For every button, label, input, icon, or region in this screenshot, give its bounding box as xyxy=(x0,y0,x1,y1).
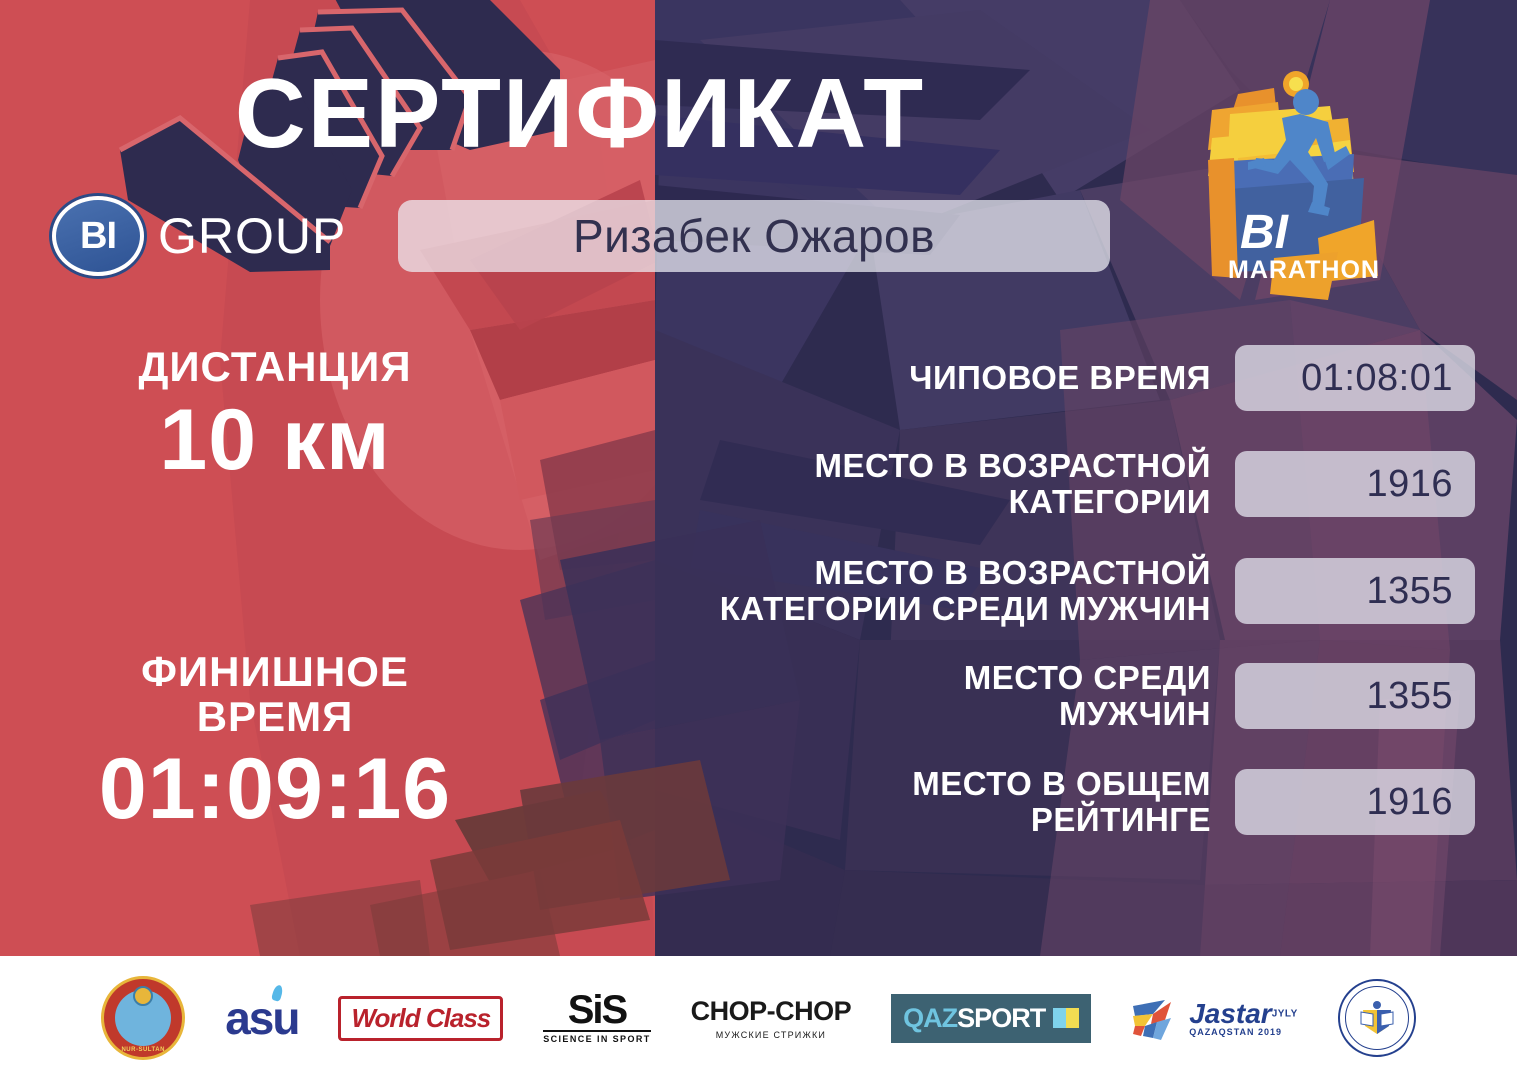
stat-row-overall-place: МЕСТО В ОБЩЕМ РЕЙТИНГЕ 1916 xyxy=(530,769,1475,835)
athlete-name-badge: Ризабек Ожаров xyxy=(398,200,1110,272)
sponsor-bar: NUR-SULTAN asu World Class SiS SCIENCE I… xyxy=(0,956,1517,1080)
sponsor-ministry xyxy=(1338,979,1416,1057)
chop-chop-wordmark: CHOP-CHOP xyxy=(691,996,852,1027)
stat-age-category-men-place-value: 1355 xyxy=(1235,558,1475,624)
nur-sultan-emblem-text: NUR-SULTAN xyxy=(121,1047,164,1053)
stat-row-age-category-place: МЕСТО В ВОЗРАСТНОЙ КАТЕГОРИИ 1916 xyxy=(530,451,1475,517)
sponsor-sis: SiS SCIENCE IN SPORT xyxy=(543,992,650,1044)
stat-finish-time: ФИНИШНОЕ ВРЕМЯ 01:09:16 xyxy=(40,650,510,836)
world-class-logo-frame: World Class xyxy=(338,996,503,1041)
sis-wordmark: SiS xyxy=(543,992,650,1028)
stat-row-age-category-men-place: МЕСТО В ВОЗРАСТНОЙ КАТЕГОРИИ СРЕДИ МУЖЧИ… xyxy=(530,558,1475,624)
page-title: СЕРТИФИКАТ xyxy=(0,62,1160,165)
stat-overall-place-label: МЕСТО В ОБЩЕМ РЕЙТИНГЕ xyxy=(912,766,1211,837)
stat-finish-time-value: 01:09:16 xyxy=(40,743,510,836)
jastar-sup: JYLY xyxy=(1272,1008,1298,1019)
qazsport-flag-icon xyxy=(1053,1008,1079,1028)
stat-distance: ДИСТАНЦИЯ 10 км xyxy=(40,345,510,486)
sponsor-asu: asu xyxy=(225,991,298,1045)
certificate: СЕРТИФИКАТ BI GROUP Ризабек Ожаров BI M xyxy=(0,0,1517,1080)
jastar-wordmark: Jastar xyxy=(1189,998,1272,1029)
jastar-text-block: JastarJYLY QAZAQSTAN 2019 xyxy=(1189,1000,1298,1037)
jastar-bird-icon xyxy=(1131,992,1183,1044)
qazsport-wordmark-b: SPORT xyxy=(957,1003,1045,1034)
sis-tagline: SCIENCE IN SPORT xyxy=(543,1030,650,1044)
stat-finish-time-label: ФИНИШНОЕ ВРЕМЯ xyxy=(40,650,510,739)
sponsor-nur-sultan: NUR-SULTAN xyxy=(101,976,185,1060)
jastar-sub: QAZAQSTAN 2019 xyxy=(1189,1028,1298,1037)
bi-logo-word: GROUP xyxy=(158,207,346,265)
asu-logo-text: asu xyxy=(225,991,298,1045)
chop-chop-tagline: МУЖСКИЕ СТРИЖКИ xyxy=(691,1030,852,1040)
sponsor-jastar-jyly: JastarJYLY QAZAQSTAN 2019 xyxy=(1131,992,1298,1044)
stat-age-category-place-value: 1916 xyxy=(1235,451,1475,517)
stat-chip-time-label: ЧИПОВОЕ ВРЕМЯ xyxy=(909,360,1211,396)
bi-marathon-logo: BI MARATHON xyxy=(1178,62,1408,304)
bi-logo-mark: BI xyxy=(52,196,144,276)
stat-age-category-place-label: МЕСТО В ВОЗРАСТНОЙ КАТЕГОРИИ xyxy=(814,448,1211,519)
world-class-wordmark: World Class xyxy=(351,1003,490,1033)
stat-men-place-label: МЕСТО СРЕДИ МУЖЧИН xyxy=(964,660,1211,731)
asu-wordmark: asu xyxy=(225,992,298,1044)
stat-row-chip-time: ЧИПОВОЕ ВРЕМЯ 01:08:01 xyxy=(530,345,1475,411)
jastar-logo-block: JastarJYLY QAZAQSTAN 2019 xyxy=(1131,992,1298,1044)
marathon-logo-line1: BI xyxy=(1240,206,1290,259)
chop-chop-logo-block: CHOP-CHOP МУЖСКИЕ СТРИЖКИ xyxy=(691,996,852,1040)
qazsport-wordmark-a: QAZ xyxy=(903,1003,957,1034)
stat-distance-value: 10 км xyxy=(40,394,510,487)
ministry-emblem-icon xyxy=(1338,979,1416,1057)
nur-sultan-emblem-icon: NUR-SULTAN xyxy=(101,976,185,1060)
bi-group-logo: BI GROUP xyxy=(52,196,346,276)
stat-men-place-value: 1355 xyxy=(1235,663,1475,729)
ministry-emblem-ring xyxy=(1345,986,1409,1050)
sponsor-qazsport: QAZ SPORT xyxy=(891,994,1091,1043)
stat-chip-time-value: 01:08:01 xyxy=(1235,345,1475,411)
stat-distance-label: ДИСТАНЦИЯ xyxy=(40,345,510,390)
sponsor-world-class: World Class xyxy=(338,996,503,1041)
athlete-name: Ризабек Ожаров xyxy=(573,209,935,263)
stat-overall-place-value: 1916 xyxy=(1235,769,1475,835)
stat-age-category-men-place-label: МЕСТО В ВОЗРАСТНОЙ КАТЕГОРИИ СРЕДИ МУЖЧИ… xyxy=(720,555,1211,626)
sis-logo-block: SiS SCIENCE IN SPORT xyxy=(543,992,650,1044)
marathon-logo-line2: MARATHON xyxy=(1228,256,1380,284)
qazsport-logo-block: QAZ SPORT xyxy=(891,994,1091,1043)
sponsor-chop-chop: CHOP-CHOP МУЖСКИЕ СТРИЖКИ xyxy=(691,996,852,1040)
stat-row-men-place: МЕСТО СРЕДИ МУЖЧИН 1355 xyxy=(530,663,1475,729)
